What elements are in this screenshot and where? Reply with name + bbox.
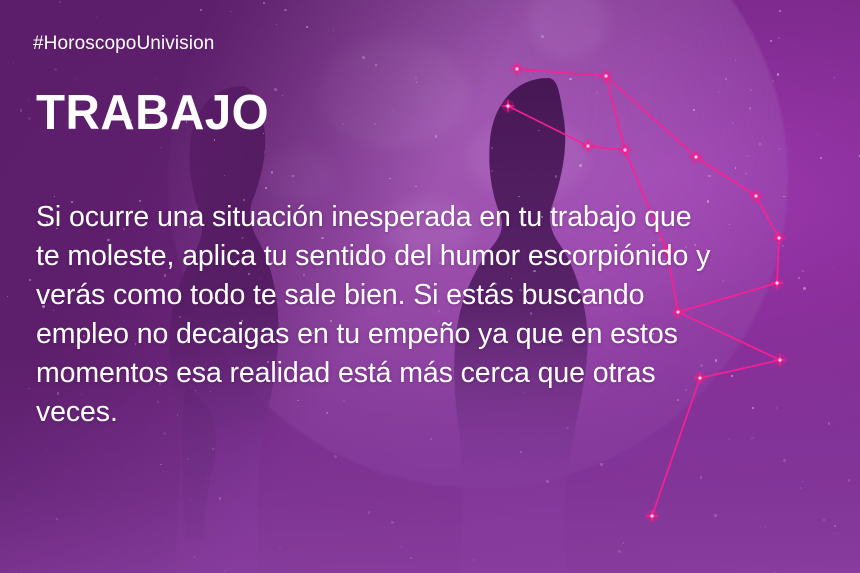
body-line: empleo no decaigas en tu empeño ya que e…	[36, 318, 678, 350]
constellation-star	[618, 143, 633, 158]
hashtag-label: #HoroscopoUnivision	[33, 33, 214, 55]
constellation-star	[510, 62, 525, 77]
constellation-line	[508, 106, 588, 146]
body-line: Si ocurre una situación inesperada en tu…	[36, 201, 692, 233]
horoscope-card: #HoroscopoUnivision TRABAJO Si ocurre un…	[0, 0, 860, 573]
horoscope-body-text: Si ocurre una situación inesperada en tu…	[36, 198, 836, 432]
constellation-line	[606, 76, 696, 157]
page-title: TRABAJO	[36, 88, 269, 138]
body-line: veces.	[36, 396, 118, 428]
body-line: te moleste, aplica tu sentido del humor …	[36, 240, 710, 272]
constellation-line	[696, 157, 756, 196]
constellation-star	[501, 99, 516, 114]
constellation-line	[606, 76, 625, 150]
body-line: momentos esa realidad está más cerca que…	[36, 357, 656, 389]
body-line: verás como todo te sale bien. Si estás b…	[36, 279, 644, 311]
constellation-line	[517, 69, 606, 76]
constellation-star	[581, 139, 596, 154]
constellation-star	[645, 509, 660, 524]
